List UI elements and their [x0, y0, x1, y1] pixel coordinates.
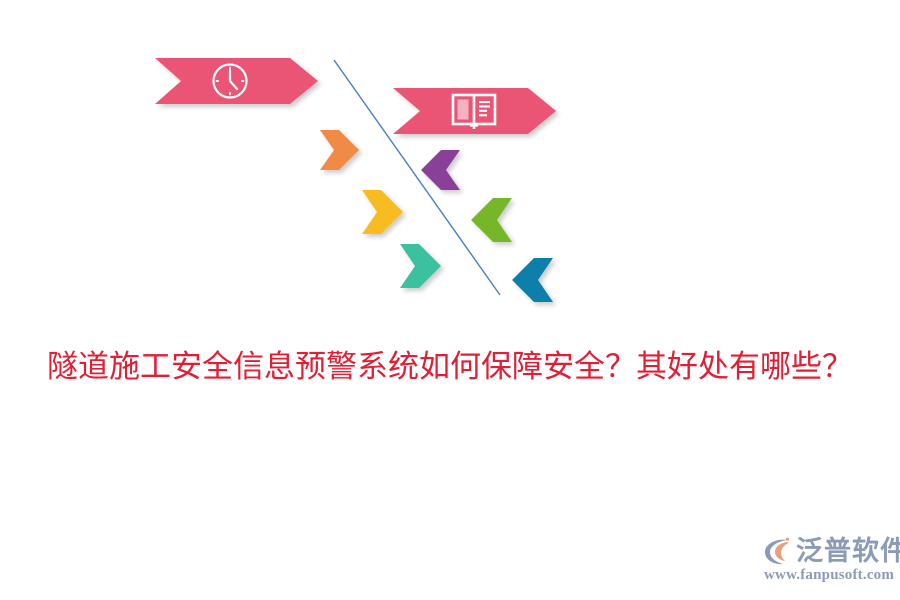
clock-icon	[214, 65, 247, 98]
chevron-yellow	[362, 190, 403, 234]
chevron-purple	[421, 150, 460, 190]
brand-name: 泛普软件	[796, 535, 900, 567]
brand-logo-row: 泛普软件	[762, 533, 900, 569]
page-title: 隧道施工安全信息预警系统如何保障安全？其好处有哪些？	[0, 344, 900, 390]
chevron-orange	[320, 130, 359, 170]
brand-url: www.fanpusoft.com	[764, 566, 894, 584]
fanpu-logo-icon	[762, 535, 794, 567]
chevron-teal	[400, 244, 441, 288]
chevron-green	[471, 198, 512, 242]
decorative-graphic	[0, 0, 900, 320]
graphic-svg	[0, 0, 900, 320]
brand-watermark: 泛普软件 www.fanpusoft.com	[762, 533, 892, 591]
page-root: 隧道施工安全信息预警系统如何保障安全？其好处有哪些？ 泛普软件 www.fanp…	[0, 0, 900, 600]
chevron-blue	[512, 258, 553, 302]
